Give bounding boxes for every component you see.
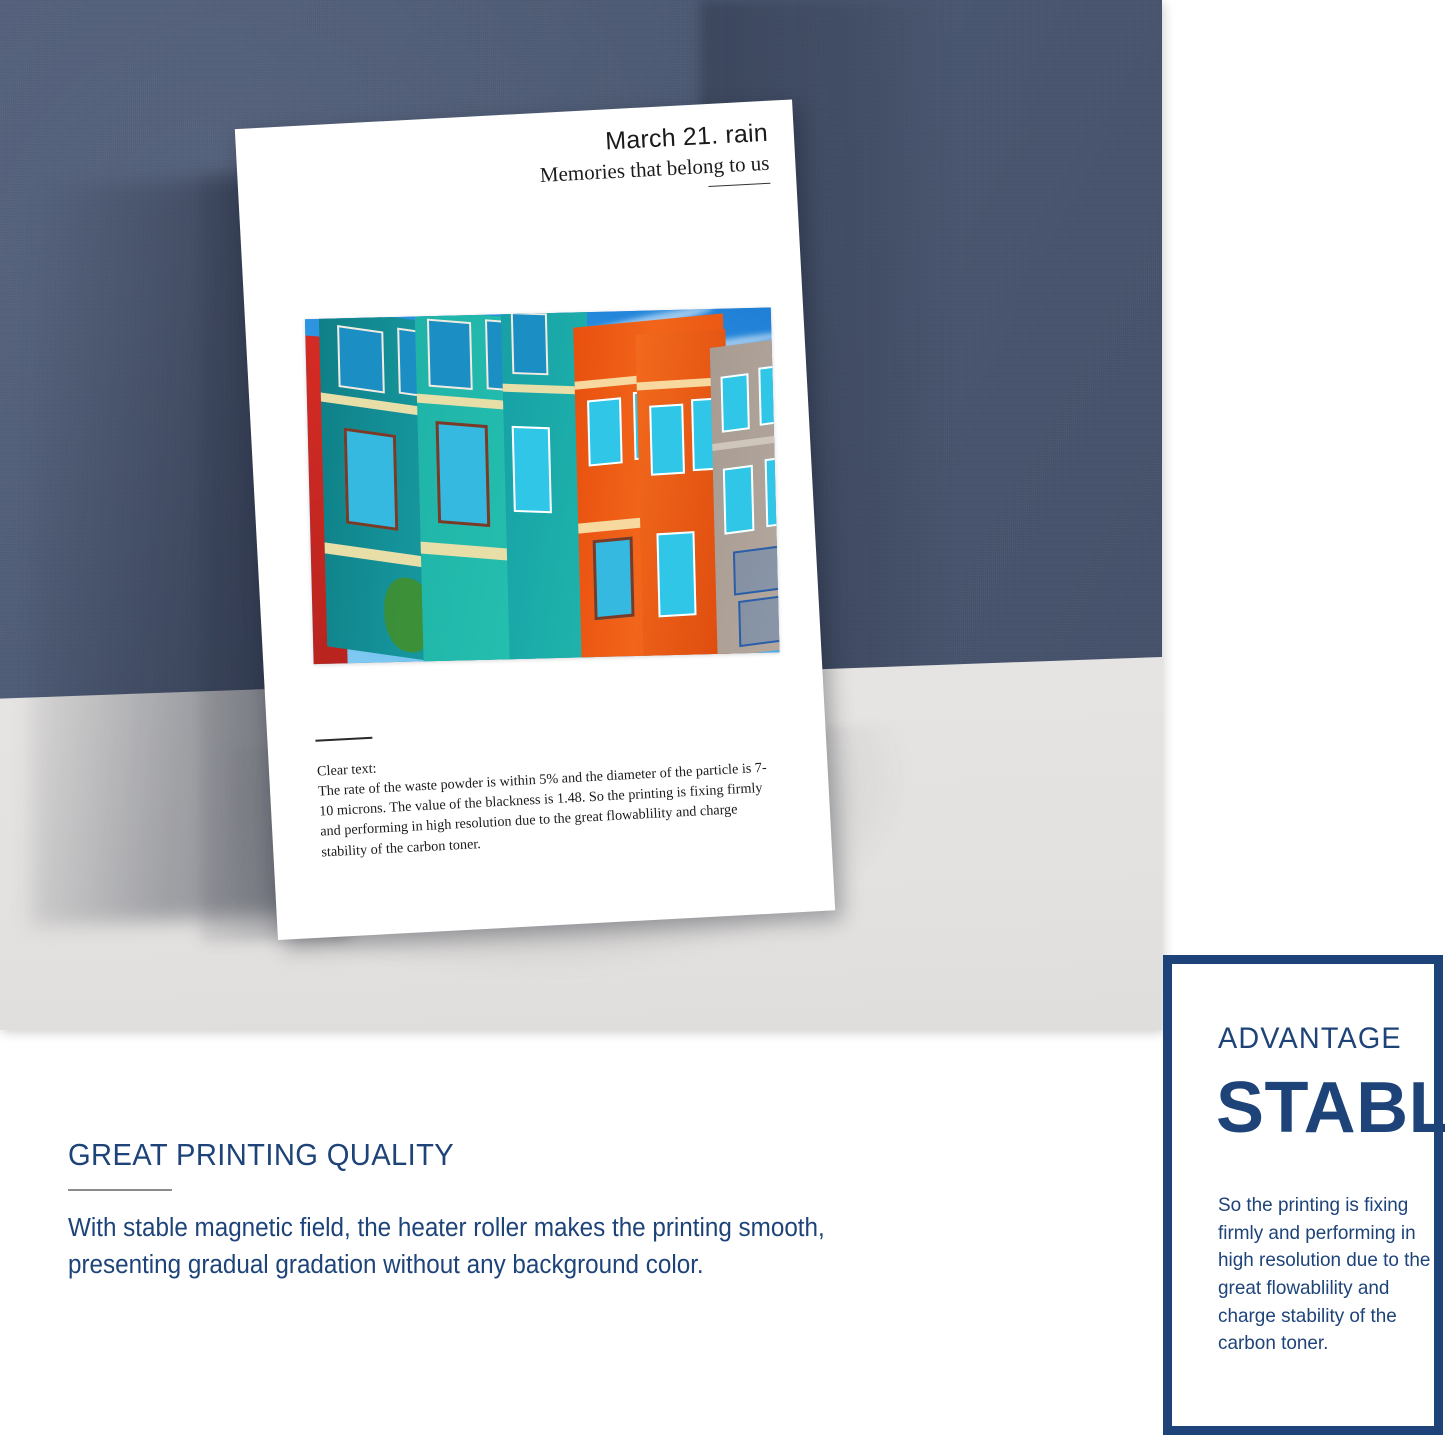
window: [427, 319, 473, 390]
advantage-label: ADVANTAGE: [1218, 1024, 1402, 1054]
balcony-railing: [733, 542, 780, 596]
window: [511, 312, 549, 375]
card-photograph: [305, 307, 780, 664]
card-header: March 21. rain Memories that belong to u…: [538, 119, 771, 197]
product-photo-panel: March 21. rain Memories that belong to u…: [0, 0, 1162, 1030]
window: [765, 455, 780, 527]
advantage-headline: STABLE: [1216, 1072, 1445, 1144]
advantage-paragraph: So the printing is fixing firmly and per…: [1218, 1192, 1439, 1358]
card-header-rule: [708, 183, 770, 188]
balcony-railing: [738, 592, 779, 647]
advantage-box: ADVANTAGE STABLE So the printing is fixi…: [1163, 955, 1443, 1435]
window: [721, 373, 750, 433]
window: [436, 421, 491, 527]
window: [656, 531, 696, 617]
satellite-dish-icon: [775, 479, 779, 504]
left-block-paragraph: With stable magnetic field, the heater r…: [68, 1210, 828, 1284]
building-gray: [710, 336, 780, 658]
window: [337, 325, 385, 394]
card-body-text: Clear text: The rate of the waste powder…: [317, 737, 782, 862]
window: [344, 428, 399, 531]
great-printing-quality-block: GREAT PRINTING QUALITY With stable magne…: [68, 1138, 868, 1284]
window: [758, 364, 779, 426]
window: [723, 465, 755, 535]
window: [512, 426, 552, 513]
printed-sample-card: March 21. rain Memories that belong to u…: [235, 99, 835, 940]
window: [593, 536, 635, 620]
window: [587, 397, 623, 466]
left-block-rule: [68, 1189, 172, 1191]
window: [649, 404, 685, 476]
cornice: [712, 432, 779, 452]
card-body-rule: [315, 737, 372, 742]
left-block-title: GREAT PRINTING QUALITY: [68, 1138, 820, 1172]
